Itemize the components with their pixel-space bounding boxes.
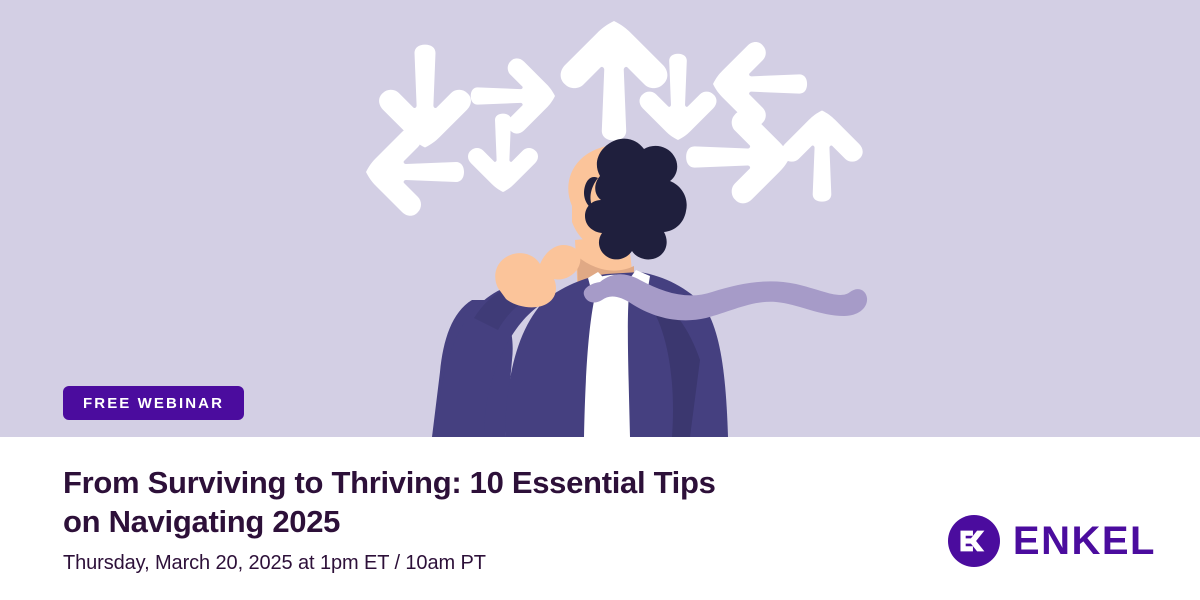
- webinar-banner: FREE WEBINAR From Surviving to Thriving:…: [0, 0, 1200, 600]
- webinar-datetime: Thursday, March 20, 2025 at 1pm ET / 10a…: [63, 550, 893, 576]
- enkel-monogram-icon: [948, 515, 1000, 567]
- panel-text-block: From Surviving to Thriving: 10 Essential…: [63, 463, 893, 576]
- enkel-wordmark: ENKEL: [1013, 521, 1156, 561]
- badge-label: FREE WEBINAR: [83, 395, 224, 412]
- hero-illustration-area: FREE WEBINAR: [0, 0, 1200, 437]
- enkel-logo[interactable]: ENKEL: [948, 515, 1156, 567]
- webinar-title: From Surviving to Thriving: 10 Essential…: [63, 463, 893, 541]
- hero-artwork: [0, 0, 1200, 437]
- free-webinar-badge: FREE WEBINAR: [63, 386, 244, 420]
